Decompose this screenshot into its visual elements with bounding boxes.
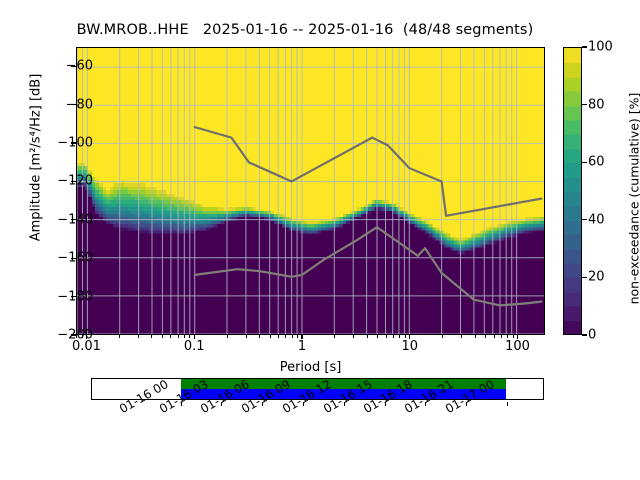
plot-title: BW.MROB..HHE 2025-01-16 -- 2025-01-16 (4… [0, 22, 610, 38]
noise-model-curves [77, 48, 544, 334]
y-tick-mark [71, 104, 76, 105]
x-tick-minor [76, 335, 77, 338]
colorbar [563, 47, 582, 335]
colorbar-tick-label: 0 [588, 328, 596, 343]
y-tick-label: −60 [66, 59, 93, 74]
x-tick-minor [507, 335, 508, 338]
colorbar-tick-label: 100 [588, 40, 613, 55]
x-tick-minor [151, 335, 152, 338]
y-tick-mark [71, 66, 76, 67]
colorbar-tick-mark [582, 334, 587, 335]
x-tick-minor [119, 335, 120, 338]
ppsd-figure: BW.MROB..HHE 2025-01-16 -- 2025-01-16 (4… [0, 0, 640, 480]
colorbar-tick-mark [582, 277, 587, 278]
x-tick-minor [162, 335, 163, 338]
x-tick-mark [194, 335, 195, 339]
x-tick-minor [405, 335, 406, 338]
colorbar-tick-mark [582, 219, 587, 220]
x-tick-label: 100 [505, 339, 530, 354]
x-tick-minor [270, 335, 271, 338]
x-tick-label: 0.1 [184, 339, 205, 354]
time-tick-mark [507, 402, 508, 406]
x-tick-minor [184, 335, 185, 338]
x-tick-minor [485, 335, 486, 338]
y-tick-mark [71, 258, 76, 259]
x-tick-minor [170, 335, 171, 338]
colorbar-tick-label: 80 [588, 97, 605, 112]
colorbar-tick-label: 60 [588, 155, 605, 170]
x-tick-minor [475, 335, 476, 338]
x-tick-minor [377, 335, 378, 338]
colorbar-label: non-exceedance (cumulative) [%] [627, 54, 640, 344]
y-axis-label: Amplitude [m²/s⁴/Hz] [dB] [29, 18, 44, 298]
x-tick-minor [297, 335, 298, 338]
x-tick-minor [246, 335, 247, 338]
x-tick-mark [301, 335, 302, 339]
x-tick-minor [278, 335, 279, 338]
y-tick-mark [71, 181, 76, 182]
x-tick-minor [82, 335, 83, 338]
x-tick-minor [285, 335, 286, 338]
y-tick-mark [71, 219, 76, 220]
y-tick-mark [71, 142, 76, 143]
x-tick-label: 0.01 [72, 339, 101, 354]
colorbar-tick-label: 20 [588, 270, 605, 285]
x-tick-minor [399, 335, 400, 338]
x-tick-label: 1 [298, 339, 306, 354]
colorbar-tick-label: 40 [588, 212, 605, 227]
x-axis-label: Period [s] [76, 360, 545, 375]
x-tick-minor [501, 335, 502, 338]
ppsd-axes [76, 47, 545, 335]
y-tick-mark [71, 296, 76, 297]
x-tick-mark [409, 335, 410, 339]
x-tick-minor [353, 335, 354, 338]
x-tick-minor [461, 335, 462, 338]
x-tick-minor [227, 335, 228, 338]
x-tick-minor [334, 335, 335, 338]
x-tick-minor [178, 335, 179, 338]
x-tick-minor [259, 335, 260, 338]
x-tick-mark [86, 335, 87, 339]
colorbar-tick-mark [582, 46, 587, 47]
x-tick-minor [367, 335, 368, 338]
x-tick-minor [189, 335, 190, 338]
x-tick-minor [386, 335, 387, 338]
x-tick-minor [513, 335, 514, 338]
y-tick-label: −80 [66, 97, 93, 112]
colorbar-tick-mark [582, 104, 587, 105]
x-tick-minor [393, 335, 394, 338]
x-tick-minor [138, 335, 139, 338]
x-tick-minor [292, 335, 293, 338]
x-tick-mark [517, 335, 518, 339]
x-tick-label: 10 [401, 339, 418, 354]
x-tick-minor [442, 335, 443, 338]
colorbar-tick-mark [582, 162, 587, 163]
x-tick-minor [494, 335, 495, 338]
